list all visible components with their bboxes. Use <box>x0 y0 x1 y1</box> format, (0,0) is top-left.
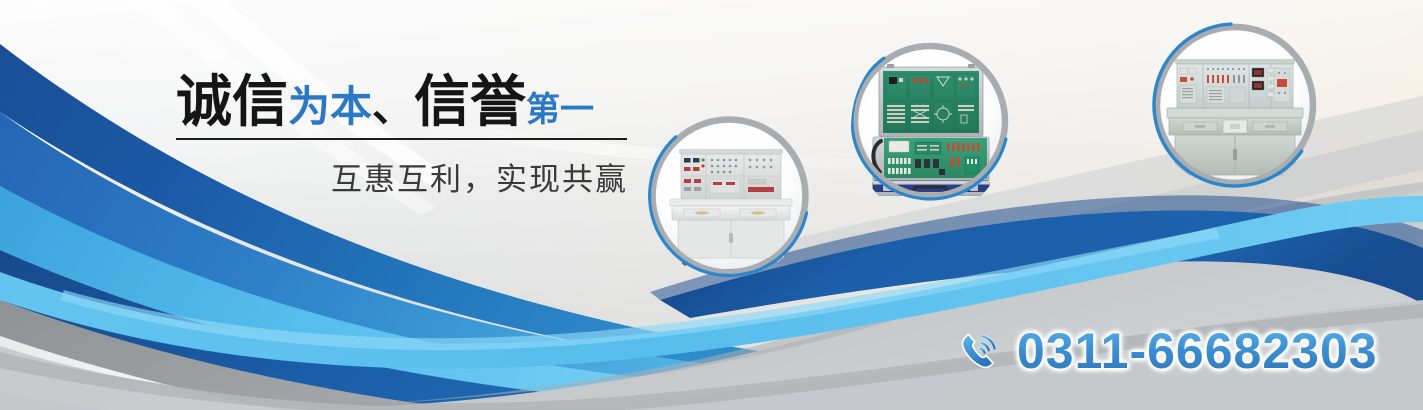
headline-divider <box>176 138 627 140</box>
headline-part-1: 诚信 <box>176 70 288 133</box>
promotional-banner: 诚信为本、信誉第一 互惠互利，实现共赢 <box>0 0 1423 410</box>
product-circle-3[interactable] <box>1151 21 1319 189</box>
product-image-workbench-green <box>1151 21 1319 189</box>
headline-block: 诚信为本、信誉第一 互惠互利，实现共赢 <box>176 74 628 199</box>
headline-part-3: 信誉 <box>414 70 526 133</box>
phone-call-icon <box>955 327 1003 375</box>
product-image-portable-lab-case <box>851 37 1009 217</box>
headline-separator: 、 <box>372 83 414 130</box>
product-circle-2[interactable] <box>851 37 1009 217</box>
phone-number[interactable]: 0311-66682303 <box>1017 326 1378 376</box>
page-title: 诚信为本、信誉第一 <box>176 74 628 130</box>
product-image-workbench-white <box>648 113 810 279</box>
subtitle: 互惠互利，实现共赢 <box>176 154 628 199</box>
headline-part-2: 为本 <box>288 83 372 130</box>
product-circle-1[interactable] <box>648 113 810 279</box>
headline-part-4: 第一 <box>526 91 594 129</box>
contact-block[interactable]: 0311-66682303 <box>955 326 1378 376</box>
